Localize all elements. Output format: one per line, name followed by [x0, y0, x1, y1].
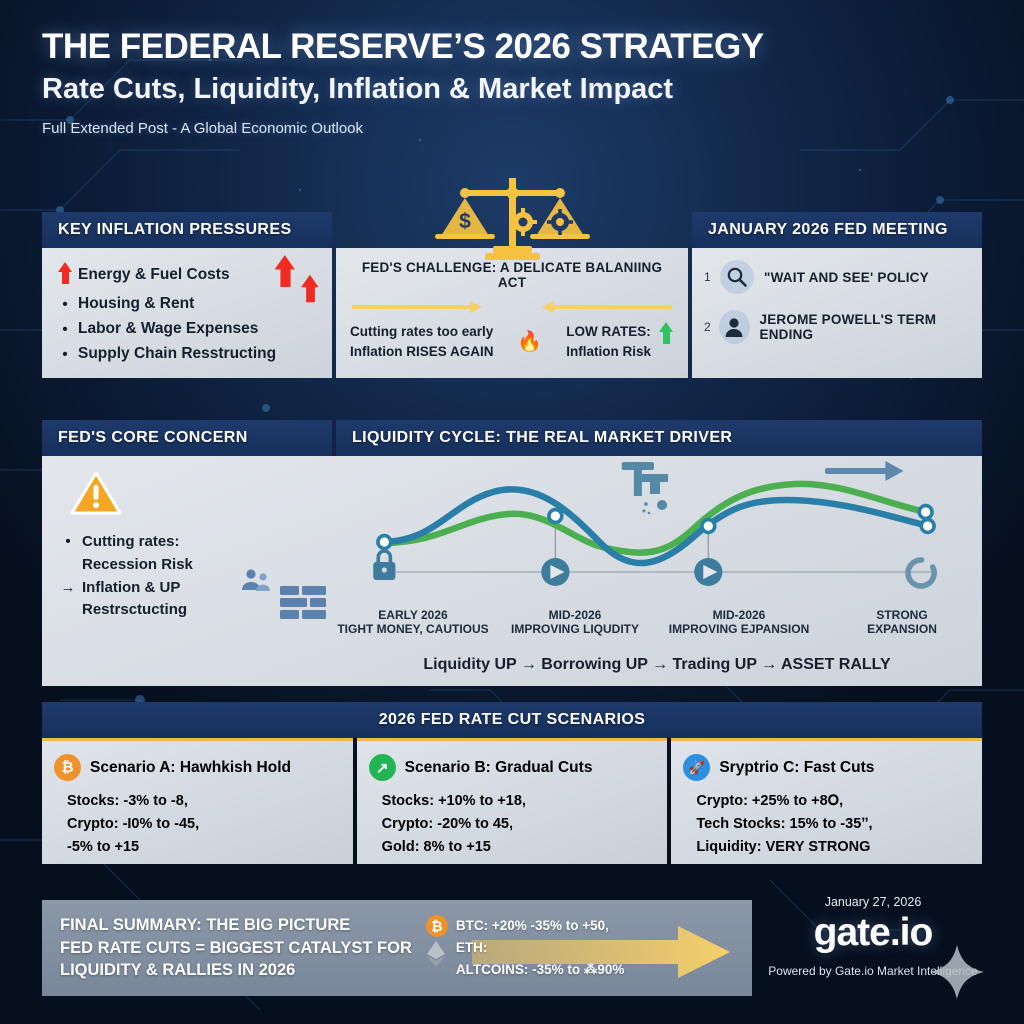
stage-label-0: EARLY 2026 TIGHT MONEY, CAUTIOUS — [332, 608, 494, 636]
panel-inflation-pressures: KEY INFLATION PRESSURES Energy & Fuel Co… — [42, 212, 332, 395]
arrow-up-icon — [301, 275, 320, 303]
people-icon — [238, 568, 272, 598]
list-item-label: Energy & Fuel Costs — [78, 266, 230, 284]
liquidity-header: LIQUIDITY CYCLE: THE REAL MARKET DRIVER — [336, 420, 982, 456]
person-icon — [719, 310, 750, 344]
coin-icons: ₿ — [426, 915, 456, 972]
challenge-right: LOW RATES: Inflation Risk — [566, 322, 674, 361]
trend-up-icon: ↗ — [369, 754, 396, 781]
scenario-card-a[interactable]: ₿ Scenario A: Hawhkish Hold Stocks: -3% … — [42, 738, 353, 864]
scenario-a-lines: Stocks: -3% to -8, Crypto: -I0% to -45, … — [67, 790, 341, 860]
list-item: • Labor & Wage Expenses — [52, 320, 320, 338]
inflation-header: KEY INFLATION PRESSURES — [42, 212, 332, 248]
list-item-label: Supply Chain Resstructing — [78, 345, 276, 363]
list-item-label: Labor & Wage Expenses — [78, 320, 258, 338]
summary-text: FINAL SUMMARY: THE BIG PICTURE FED RATE … — [42, 914, 412, 982]
stage-label-3: STRONG EXPANSION — [822, 608, 982, 636]
bitcoin-icon: ₿ — [426, 915, 448, 937]
list-item: • Housing & Rent — [52, 295, 320, 313]
list-item: Recession Risk — [54, 554, 322, 577]
flame-icon: 🔥 — [517, 329, 542, 354]
row-core-concern-liquidity: FED'S CORE CONCERN LIQUIDITY CYCLE: THE … — [42, 420, 982, 690]
list-item-number: 2 — [704, 320, 717, 334]
brick-wall-icon — [280, 586, 326, 620]
page-header: THE FEDERAL RESERVE’S 2026 STRATEGY Rate… — [0, 0, 1024, 137]
page-tagline: Full Extended Post - A Global Economic O… — [42, 120, 984, 137]
balance-scales-icon: $ — [425, 170, 600, 265]
liquidity-cycle-svg — [332, 456, 982, 686]
liquidity-chart: EARLY 2026 TIGHT MONEY, CAUTIOUS MID-202… — [332, 456, 982, 686]
arrow-up-icon — [274, 255, 296, 287]
challenge-arrows — [352, 301, 672, 312]
panel-rate-cut-scenarios: 2026 FED RATE CUT SCENARIOS ₿ Scenario A… — [42, 702, 982, 872]
arrow-left-icon — [532, 301, 672, 312]
list-item-label: Housing & Rent — [78, 295, 194, 313]
list-item: 1 "WAIT AND SEE' POLICY — [704, 260, 972, 294]
list-item-number: 1 — [704, 270, 718, 284]
scenario-card-b[interactable]: ↗ Scenario B: Gradual Cuts Stocks: +10% … — [357, 738, 668, 864]
brand-name-text: gate.io — [814, 911, 933, 954]
list-item: •Cutting rates: — [54, 531, 322, 554]
brand-date: January 27, 2026 — [750, 895, 996, 909]
arrow-right-icon — [352, 301, 492, 312]
list-item-label: JEROME POWELL'S TERM ENDING — [760, 312, 972, 342]
panel-fed-meeting: JANUARY 2026 FED MEETING 1 "WAIT AND SEE… — [692, 212, 982, 395]
challenge-left: Cutting rates too early Inflation RISES … — [350, 322, 494, 361]
inflation-body: Energy & Fuel Costs • Housing & Rent • L… — [42, 248, 332, 378]
magnifier-icon — [720, 260, 754, 294]
scenario-c-title: Sryptrio C: Fast Cuts — [719, 759, 874, 777]
bitcoin-icon: ₿ — [54, 754, 81, 781]
brand-logo: gate.io — [750, 913, 996, 952]
gate-diamond-icon — [928, 943, 986, 1001]
list-item-label: "WAIT AND SEE' POLICY — [764, 270, 929, 285]
scenarios-header: 2026 FED RATE CUT SCENARIOS — [42, 702, 982, 738]
scenario-b-head: ↗ Scenario B: Gradual Cuts — [369, 754, 656, 781]
fed-meeting-body: 1 "WAIT AND SEE' POLICY 2 JEROME POWELL'… — [692, 248, 982, 378]
fed-meeting-header: JANUARY 2026 FED MEETING — [692, 212, 982, 248]
scenario-c-lines: Crypto: +25% to +8Օ, Tech Stocks: 15% to… — [696, 790, 970, 860]
challenge-body: FED'S CHALLENGE: A DELICATE BALANIING AC… — [336, 248, 688, 378]
play-icon — [541, 558, 569, 586]
liquidity-caption: Liquidity UP → Borrowing UP → Trading UP… — [332, 656, 982, 674]
scenario-c-head: 🚀 Sryptrio C: Fast Cuts — [683, 754, 970, 781]
scenario-b-title: Scenario B: Gradual Cuts — [405, 759, 593, 777]
summary-coins: ₿ BTC: +20% -35% to +50, ETH: ALTCOINS: … — [426, 915, 625, 981]
rocket-icon: 🚀 — [683, 754, 710, 781]
faucet-icon — [622, 462, 668, 514]
panel-final-summary: FINAL SUMMARY: THE BIG PICTURE FED RATE … — [42, 900, 752, 996]
panel-core-concern: •Cutting rates: Recession Risk →Inflatio… — [42, 456, 332, 686]
bullet-icon: • — [52, 346, 78, 363]
svg-text:$: $ — [459, 210, 471, 233]
scenario-b-lines: Stocks: +10% to +18, Crypto: -20% to 45,… — [382, 790, 656, 860]
coin-text-lines: BTC: +20% -35% to +50, ETH: ALTCOINS: -3… — [456, 915, 625, 981]
page-title: THE FEDERAL RESERVE’S 2026 STRATEGY — [42, 28, 984, 66]
arrow-right-icon — [825, 461, 903, 481]
scenario-card-c[interactable]: 🚀 Sryptrio C: Fast Cuts Crypto: +25% to … — [671, 738, 982, 864]
decorative-arrows — [272, 260, 318, 287]
lock-icon — [373, 551, 395, 580]
warning-icon — [70, 470, 122, 516]
ethereum-icon — [426, 941, 446, 967]
scenario-a-head: ₿ Scenario A: Hawhkish Hold — [54, 754, 341, 781]
core-concern-header: FED'S CORE CONCERN — [42, 420, 332, 456]
bullet-icon: • — [52, 296, 78, 313]
scenario-a-title: Scenario A: Hawhkish Hold — [90, 759, 291, 777]
brand-block: January 27, 2026 gate.io Powered by Gate… — [750, 895, 996, 978]
arrow-up-green-icon — [659, 322, 674, 344]
stage-label-2: MID-2026 IMPROVING EJPANSION — [656, 608, 822, 636]
page-subtitle: Rate Cuts, Liquidity, Inflation & Market… — [42, 74, 984, 106]
challenge-columns: Cutting rates too early Inflation RISES … — [350, 322, 674, 361]
bullet-icon: • — [52, 321, 78, 338]
list-item: • Supply Chain Resstructing — [52, 345, 320, 363]
list-item: 2 JEROME POWELL'S TERM ENDING — [704, 310, 972, 344]
refresh-icon — [908, 560, 934, 586]
play-icon — [694, 558, 722, 586]
stage-label-1: MID-2026 IMPROVING LIQUDITY — [494, 608, 656, 636]
arrow-up-icon — [52, 262, 78, 288]
